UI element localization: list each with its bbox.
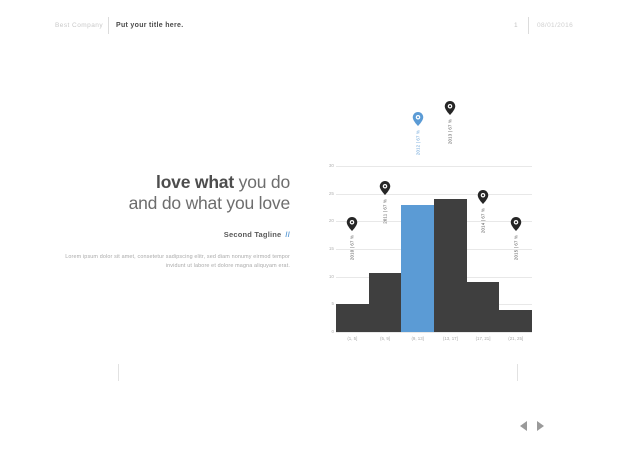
chart-marker-label: 2015 | 67 % xyxy=(513,235,518,260)
chart-bars xyxy=(336,166,532,332)
chart-x-tick-label: (9, 13] xyxy=(401,336,434,341)
header-page-number: 1 xyxy=(514,22,518,29)
headline-emphasis: love what xyxy=(156,172,234,192)
subtitle-tagline: Second Tagline// xyxy=(60,230,290,239)
map-pin-icon xyxy=(510,217,521,231)
chart-bar xyxy=(336,304,369,332)
chart-y-tick-label: 0 xyxy=(331,329,334,334)
headline-normal: you do xyxy=(234,172,290,192)
chart-y-tick-label: 10 xyxy=(329,274,334,279)
header-date: 08/01/2016 xyxy=(537,22,573,29)
prev-arrow-icon[interactable] xyxy=(520,421,527,431)
chart-x-tick-label: (13, 17] xyxy=(434,336,467,341)
headline-line-2: and do what you love xyxy=(60,193,290,214)
chart-bar xyxy=(467,282,500,332)
chart-y-tick-label: 15 xyxy=(329,246,334,251)
footer-tick-left xyxy=(118,364,119,381)
next-arrow-icon[interactable] xyxy=(537,421,544,431)
chart-gridline xyxy=(336,332,532,333)
map-pin-icon xyxy=(380,181,391,195)
bar-chart: 302520151050 (1, 5](5, 9](9, 13](13, 17]… xyxy=(322,128,537,323)
body-paragraph: Lorem ipsum dolor sit amet, consetetur s… xyxy=(60,253,290,271)
slide-navigation[interactable] xyxy=(520,421,544,431)
chart-marker-label: 2010 | 67 % xyxy=(350,235,355,260)
chart-y-tick-label: 25 xyxy=(329,191,334,196)
footer-tick-right xyxy=(517,364,518,381)
chart-x-tick-label: (17, 21] xyxy=(467,336,500,341)
tagline-text: Second Tagline xyxy=(224,230,282,239)
map-pin-icon xyxy=(412,112,423,126)
chart-y-tick-label: 5 xyxy=(331,301,334,306)
chart-x-tick-label: (5, 9] xyxy=(369,336,402,341)
chart-y-tick-label: 30 xyxy=(329,163,334,168)
chart-y-tick-label: 20 xyxy=(329,218,334,223)
header-divider-left xyxy=(108,17,109,34)
chart-x-axis-labels: (1, 5](5, 9](9, 13](13, 17](17, 21](21, … xyxy=(336,336,532,341)
chart-bar xyxy=(401,205,434,332)
tagline-slashes: // xyxy=(285,230,290,239)
chart-bar xyxy=(499,310,532,332)
chart-marker-label: 2011 | 67 % xyxy=(383,199,388,224)
header-divider-right xyxy=(528,17,529,34)
map-pin-icon xyxy=(478,190,489,204)
presentation-slide: Best Company Put your title here. 1 08/0… xyxy=(0,0,640,453)
map-pin-icon xyxy=(445,101,456,115)
header-title: Put your title here. xyxy=(116,22,183,29)
map-pin-icon xyxy=(347,217,358,231)
chart-x-tick-label: (21, 25] xyxy=(499,336,532,341)
slide-header: Best Company Put your title here. 1 08/0… xyxy=(0,0,640,50)
chart-bar-cell xyxy=(401,166,434,332)
chart-marker-label: 2012 | 67 % xyxy=(415,130,420,155)
headline-line-1: love what you do xyxy=(60,172,290,193)
chart-marker-label: 2013 | 67 % xyxy=(448,119,453,144)
chart-x-tick-label: (1, 5] xyxy=(336,336,369,341)
chart-bar xyxy=(434,199,467,332)
headline-text-block: love what you do and do what you love Se… xyxy=(60,172,290,271)
header-company-name: Best Company xyxy=(55,22,103,29)
chart-bar xyxy=(369,273,402,332)
chart-bar-cell xyxy=(434,166,467,332)
chart-marker-label: 2014 | 67 % xyxy=(481,208,486,233)
